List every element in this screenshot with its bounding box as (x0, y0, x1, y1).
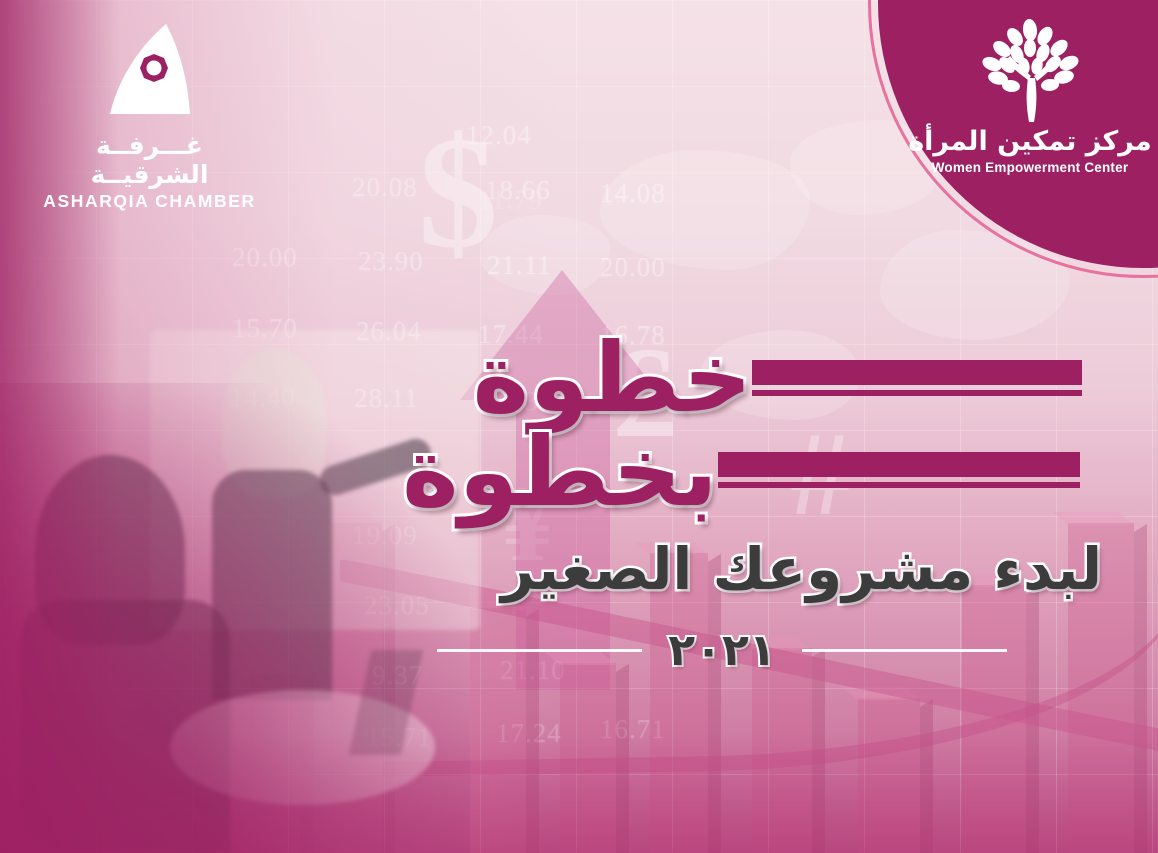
title-line-1-row: خطوة (402, 330, 1102, 426)
title-decoration-bar-2 (718, 452, 1080, 488)
year-row: ٢٠٢١ (402, 629, 1102, 673)
chamber-name-arabic: غـــرفــة الشرقيــة (42, 131, 257, 189)
women-empowerment-center-logo: مركز تمكين المرأة Women Empowerment Cent… (905, 18, 1155, 175)
decoration-thick-bar (718, 452, 1080, 477)
asharqia-chamber-logo: غـــرفــة الشرقيــة ASHARQIA CHAMBER (42, 22, 257, 212)
center-name-arabic: مركز تمكين المرأة (905, 126, 1155, 157)
chamber-name-english: ASHARQIA CHAMBER (42, 191, 257, 212)
decoration-thin-bar (718, 482, 1080, 488)
title-line-2-row: بخطوة (402, 420, 1102, 520)
center-name-english: Women Empowerment Center (905, 160, 1155, 175)
decoration-thin-bar (752, 390, 1082, 396)
ticker-number: 14.08 (600, 178, 666, 209)
cover-page: 12.04 20.08 18.66 14.08 20.00 23.90 21.1… (0, 0, 1158, 853)
title-decoration-bar-1 (752, 360, 1082, 396)
bottom-left-corner-shade (0, 383, 470, 853)
year-rule-right (802, 649, 1007, 652)
year-rule-left (437, 649, 642, 652)
title-line-1: خطوة (472, 330, 752, 426)
subtitle: لبدء مشروعك الصغير (402, 536, 1102, 603)
title-block: خطوة بخطوة لبدء مشروعك الصغير ٢٠٢١ (402, 330, 1102, 673)
sail-chamber-mark-icon (104, 22, 196, 120)
year-label: ٢٠٢١ (668, 629, 775, 673)
title-line-2: بخطوة (402, 424, 718, 520)
decoration-thick-bar (752, 360, 1082, 385)
tree-icon (974, 18, 1086, 122)
